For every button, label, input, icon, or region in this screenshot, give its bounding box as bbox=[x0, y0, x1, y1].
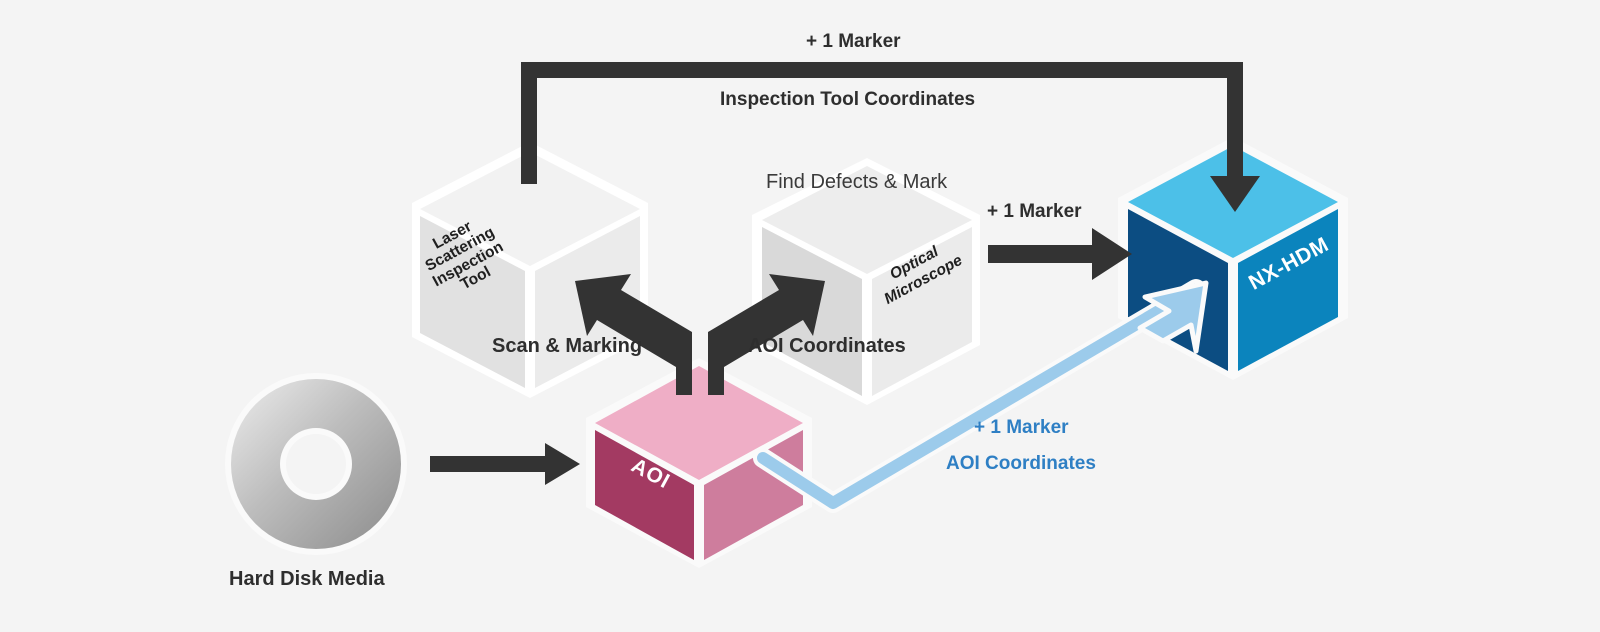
label-blue-marker: + 1 Marker bbox=[974, 417, 1069, 439]
hard-disk-media bbox=[225, 373, 407, 555]
label-micro-marker: + 1 Marker bbox=[987, 201, 1082, 223]
label-scan-and-marking: Scan & Marking bbox=[492, 335, 642, 358]
arrow-disk-to-aoi bbox=[430, 443, 580, 485]
label-top-marker: + 1 Marker bbox=[806, 31, 901, 53]
arrow-microscope-to-nxhdm bbox=[988, 228, 1132, 280]
label-hard-disk-media: Hard Disk Media bbox=[229, 568, 385, 591]
label-blue-aoi-coordinates: AOI Coordinates bbox=[946, 453, 1096, 475]
label-find-defects-and-mark: Find Defects & Mark bbox=[766, 171, 947, 194]
label-inspection-tool-coordinates: Inspection Tool Coordinates bbox=[720, 89, 975, 111]
label-aoi-coordinates: AOI Coordinates bbox=[748, 335, 906, 358]
diagram-canvas: + 1 Marker Inspection Tool Coordinates L… bbox=[0, 0, 1600, 632]
